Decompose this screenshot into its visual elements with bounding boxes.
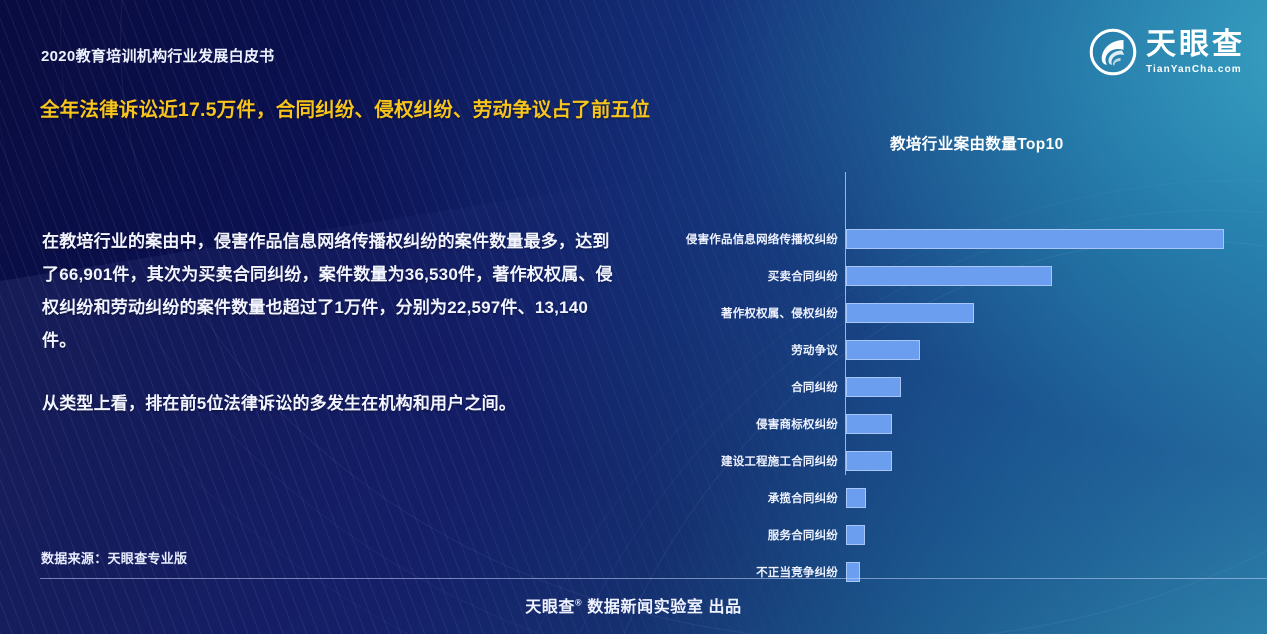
brand-logo: 天眼查 TianYanCha.com [1089, 28, 1245, 76]
chart-bar-row: 侵害商标权纠纷 [640, 405, 1260, 442]
chart-bar [846, 340, 920, 360]
chart-bar [846, 266, 1052, 286]
chart-bar [846, 303, 974, 323]
tianyancha-swirl-icon [1089, 28, 1137, 76]
footer-divider [40, 578, 1267, 579]
footer-credit-text: 数据新闻实验室 出品 [582, 599, 742, 616]
chart-bar [846, 414, 892, 434]
chart-bar-row: 买卖合同纠纷 [640, 257, 1260, 294]
body-paragraph-2: 从类型上看，排在前5位法律诉讼的多发生在机构和用户之间。 [42, 387, 622, 420]
page-title: 全年法律诉讼近17.5万件，合同纠纷、侵权纠纷、劳动争议占了前五位 [40, 93, 650, 122]
chart-category-label: 买卖合同纠纷 [768, 268, 838, 284]
chart-bar [846, 229, 1224, 249]
chart-bar [846, 377, 901, 397]
body-copy: 在教培行业的案由中，侵害作品信息网络传播权纠纷的案件数量最多，达到了66,901… [42, 225, 622, 420]
chart-bar [846, 525, 865, 545]
chart-category-label: 侵害作品信息网络传播权纠纷 [686, 231, 838, 247]
chart-bar-row: 劳动争议 [640, 331, 1260, 368]
logo-name-en: TianYanCha.com [1146, 65, 1245, 75]
chart-plot-area: 侵害作品信息网络传播权纠纷买卖合同纠纷著作权权属、侵权纠纷劳动争议合同纠纷侵害商… [640, 175, 1260, 550]
chart-bar-row: 建设工程施工合同纠纷 [640, 442, 1260, 479]
data-source-note: 数据来源：天眼查专业版 [41, 548, 187, 567]
footer-brand: 天眼查 [525, 599, 575, 616]
infographic-slide: 2020教育培训机构行业发展白皮书 全年法律诉讼近17.5万件，合同纠纷、侵权纠… [0, 0, 1267, 634]
chart-title: 教培行业案由数量Top10 [890, 132, 1064, 154]
logo-name-cn: 天眼查 [1146, 30, 1245, 60]
chart-category-label: 建设工程施工合同纠纷 [721, 453, 838, 469]
footer-credit: 天眼查® 数据新闻实验室 出品 [0, 593, 1267, 617]
chart-bar-row: 服务合同纠纷 [640, 516, 1260, 553]
report-kicker: 2020教育培训机构行业发展白皮书 [41, 45, 274, 66]
chart-category-label: 侵害商标权纠纷 [756, 416, 838, 432]
bar-chart: 教培行业案由数量Top10 侵害作品信息网络传播权纠纷买卖合同纠纷著作权权属、侵… [640, 120, 1260, 550]
chart-bar-row: 承揽合同纠纷 [640, 479, 1260, 516]
chart-bar [846, 488, 866, 508]
chart-category-label: 服务合同纠纷 [768, 527, 838, 543]
body-paragraph-1: 在教培行业的案由中，侵害作品信息网络传播权纠纷的案件数量最多，达到了66,901… [42, 225, 622, 357]
chart-category-label: 劳动争议 [791, 342, 838, 358]
logo-wordmark: 天眼查 TianYanCha.com [1146, 30, 1245, 75]
chart-bar-row: 合同纠纷 [640, 368, 1260, 405]
chart-bar-row: 著作权权属、侵权纠纷 [640, 294, 1260, 331]
chart-bar [846, 451, 892, 471]
chart-category-label: 著作权权属、侵权纠纷 [721, 305, 838, 321]
chart-category-label: 承揽合同纠纷 [768, 490, 838, 506]
chart-category-label: 合同纠纷 [791, 379, 838, 395]
chart-bar-row: 侵害作品信息网络传播权纠纷 [640, 220, 1260, 257]
chart-bar-row: 不正当竞争纠纷 [640, 553, 1260, 590]
